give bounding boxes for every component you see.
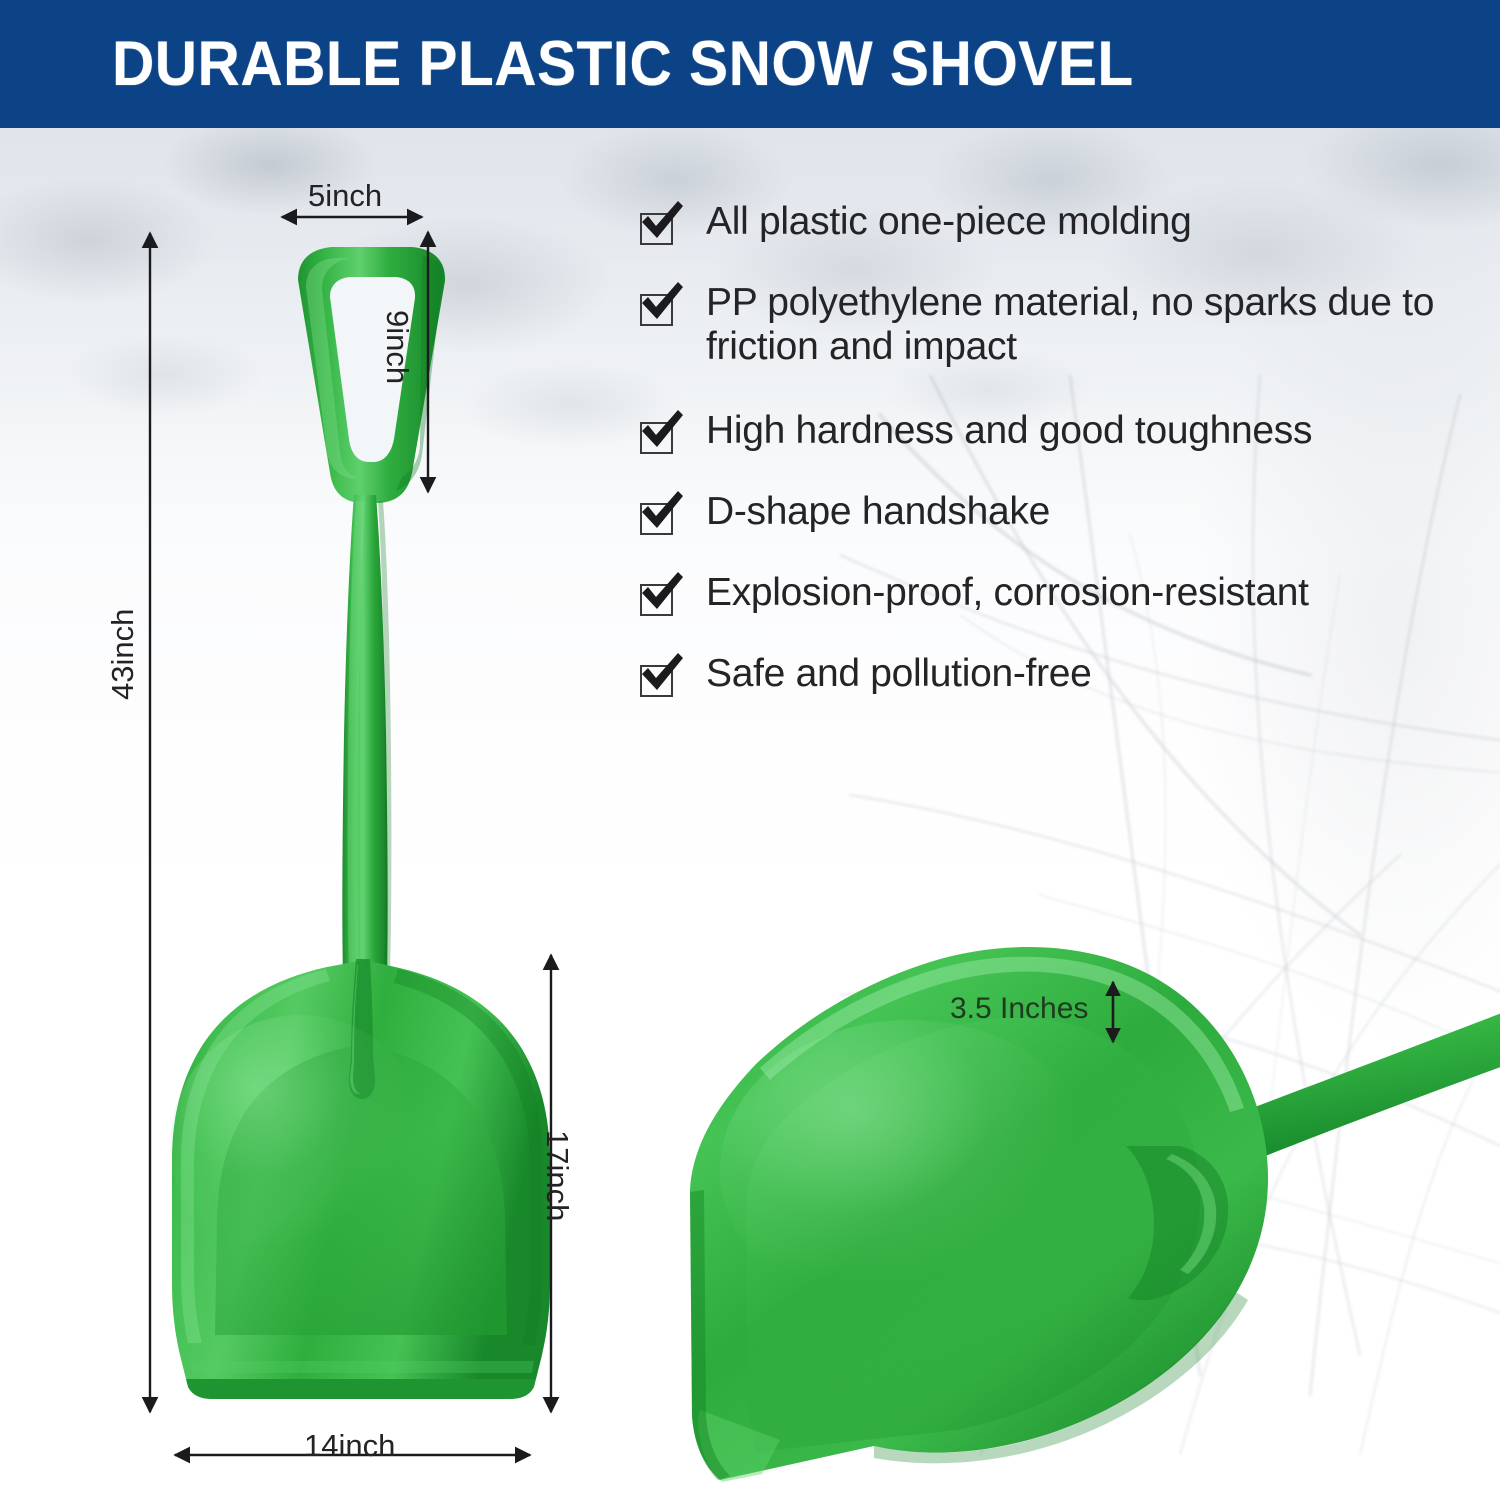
feature-item: Safe and pollution-free xyxy=(640,652,1460,697)
feature-item: D-shape handshake xyxy=(640,490,1460,535)
checkbox-checked-icon xyxy=(640,661,676,697)
dimension-label-blade-depth: 3.5 Inches xyxy=(950,992,1088,1026)
dimension-label-blade-height: 17inch xyxy=(539,1130,575,1221)
checkbox-checked-icon xyxy=(640,499,676,535)
feature-label: Explosion-proof, corrosion-resistant xyxy=(706,571,1309,615)
feature-item: High hardness and good toughness xyxy=(640,409,1460,454)
page-title: DURABLE PLASTIC SNOW SHOVEL xyxy=(112,28,1134,100)
feature-list: All plastic one-piece molding PP polyeth… xyxy=(640,200,1460,733)
dimension-label-total-length: 43inch xyxy=(105,609,141,700)
feature-label: PP polyethylene material, no sparks due … xyxy=(706,281,1460,369)
dimension-label-blade-width: 14inch xyxy=(304,1428,395,1464)
shovel-full-view-image xyxy=(150,215,570,1415)
feature-item: PP polyethylene material, no sparks due … xyxy=(640,281,1460,369)
feature-item: All plastic one-piece molding xyxy=(640,200,1460,245)
checkbox-checked-icon xyxy=(640,290,676,326)
dimension-label-handle-width: 5inch xyxy=(308,178,382,214)
checkbox-checked-icon xyxy=(640,580,676,616)
dimension-label-handle-height: 9inch xyxy=(379,310,415,384)
feature-item: Explosion-proof, corrosion-resistant xyxy=(640,571,1460,616)
feature-label: Safe and pollution-free xyxy=(706,652,1092,696)
checkbox-checked-icon xyxy=(640,418,676,454)
feature-label: D-shape handshake xyxy=(706,490,1050,534)
header-banner: DURABLE PLASTIC SNOW SHOVEL xyxy=(0,0,1500,128)
feature-label: All plastic one-piece molding xyxy=(706,200,1192,244)
feature-label: High hardness and good toughness xyxy=(706,409,1312,453)
checkbox-checked-icon xyxy=(640,209,676,245)
infographic-canvas: DURABLE PLASTIC SNOW SHOVEL xyxy=(0,0,1500,1500)
